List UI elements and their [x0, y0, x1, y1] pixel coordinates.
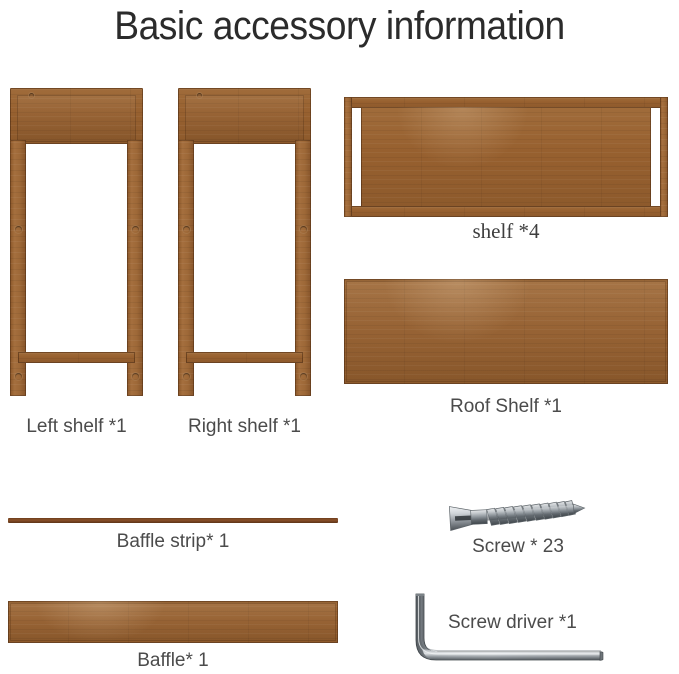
caption-baffle-strip: Baffle strip* 1 [8, 531, 338, 553]
shelf-bottom-flange [344, 206, 668, 217]
screw-hole-icon [29, 93, 34, 98]
right-shelf-top-inset [185, 95, 304, 142]
screw-hole-icon [197, 93, 202, 98]
right-shelf-top-block [178, 88, 311, 144]
part-baffle-strip [8, 518, 338, 523]
caption-left-shelf: Left shelf *1 [10, 416, 143, 438]
screw-hole-icon [15, 226, 22, 233]
left-shelf-top-block [10, 88, 143, 144]
right-shelf-cross-rail [186, 352, 303, 363]
accessory-diagram: Basic accessory information Left shelf *… [0, 0, 679, 674]
screw-hole-icon [183, 373, 190, 380]
screw-hole-icon [300, 373, 307, 380]
shelf-body [361, 107, 651, 207]
screw-icon [444, 494, 592, 538]
part-baffle [8, 601, 338, 643]
left-shelf-top-inset [17, 95, 136, 142]
part-right-shelf [178, 88, 311, 396]
shelf-left-endcap [344, 97, 352, 217]
shelf-right-notch [651, 108, 660, 206]
caption-screwdriver: Screw driver *1 [448, 612, 577, 634]
caption-baffle: Baffle* 1 [8, 650, 338, 672]
caption-roof-shelf: Roof Shelf *1 [344, 396, 668, 418]
screw-hole-icon [15, 373, 22, 380]
caption-screw: Screw * 23 [430, 536, 606, 558]
shelf-left-notch [352, 108, 361, 206]
screw-hole-icon [132, 226, 139, 233]
caption-right-shelf: Right shelf *1 [178, 416, 311, 438]
screw-hole-icon [300, 226, 307, 233]
left-shelf-cross-rail [18, 352, 135, 363]
screw-hole-icon [132, 373, 139, 380]
caption-shelf: shelf *4 [344, 220, 668, 242]
shelf-highlight [396, 107, 529, 169]
part-shelf [344, 97, 668, 217]
roof-shelf-inset [346, 281, 666, 382]
page-title: Basic accessory information [24, 2, 655, 50]
part-roof-shelf [344, 279, 668, 384]
screw-hole-icon [183, 226, 190, 233]
baffle-inset [10, 603, 336, 641]
shelf-right-endcap [660, 97, 668, 217]
part-left-shelf [10, 88, 143, 396]
